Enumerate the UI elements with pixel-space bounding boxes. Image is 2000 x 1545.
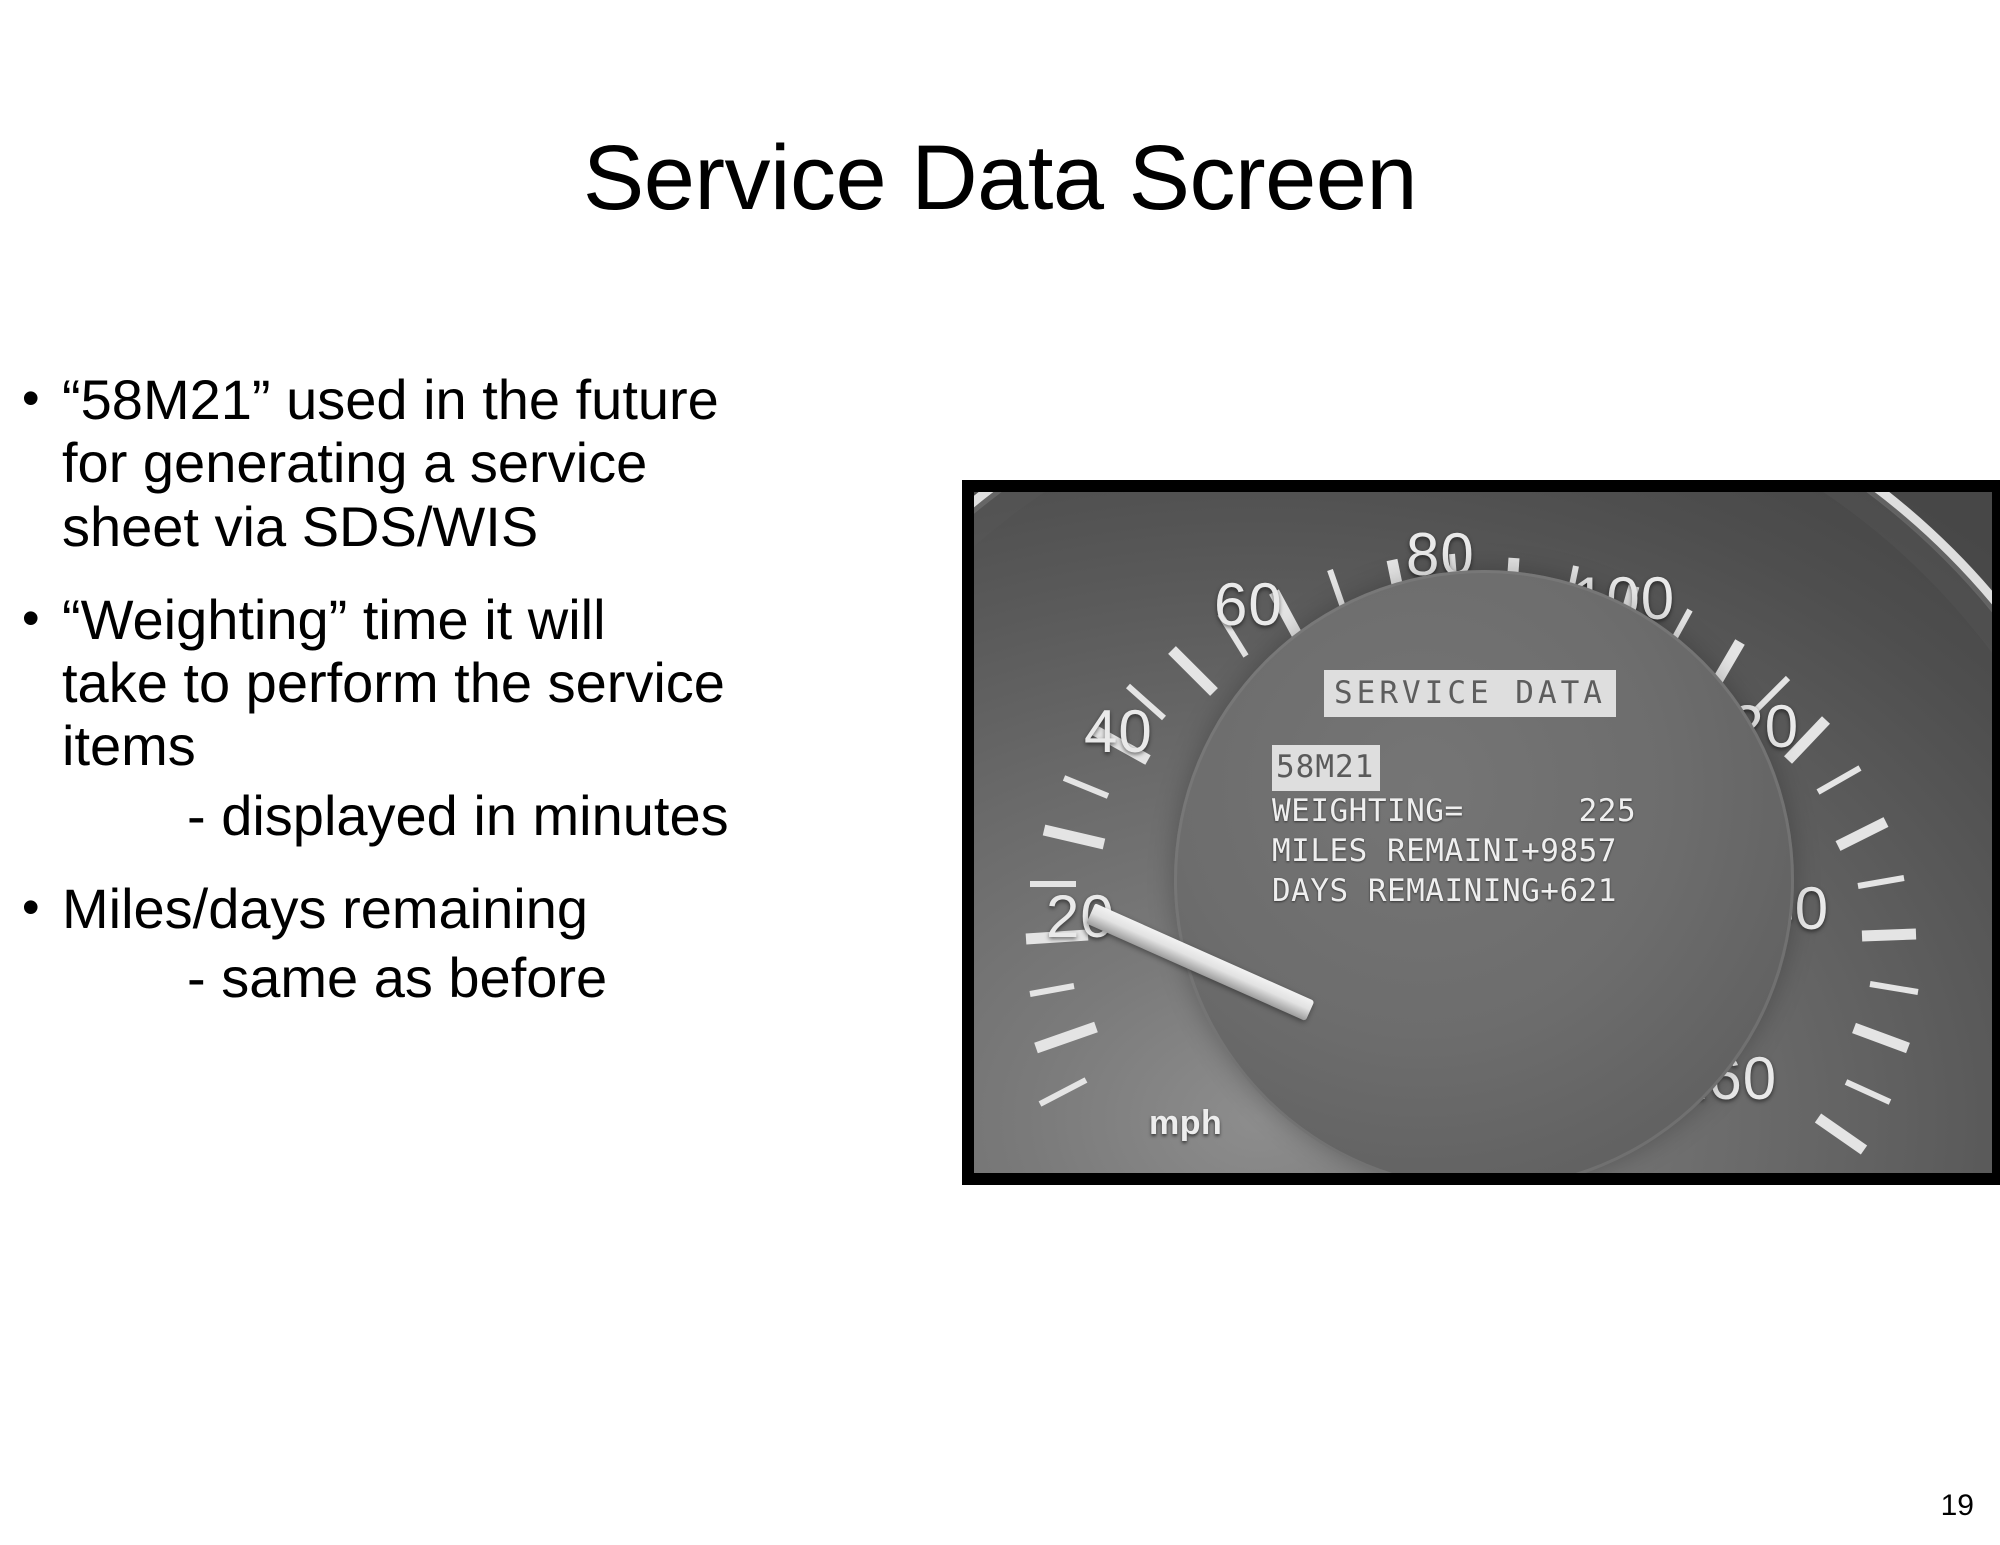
bullet-subline: - same as before [22, 946, 742, 1009]
lcd-line-miles-remaining: MILES REMAINI+9857 [1272, 831, 1712, 871]
bullet-line: Miles/days remaining [62, 877, 742, 940]
bullet-line: “58M21” used in the future [62, 368, 742, 431]
lcd-line-weighting: WEIGHTING= 225 [1272, 791, 1712, 831]
lcd-display: SERVICE DATA 58M21 WEIGHTING= 225 MILES … [1272, 670, 1712, 911]
bullet-marker-icon: • [22, 588, 62, 649]
bullet-line: sheet via SDS/WIS [62, 495, 742, 558]
gauge-face: 20 40 60 80 100 120 140 160 SERVICE DATA… [974, 492, 1992, 1173]
speedometer-photo: 20 40 60 80 100 120 140 160 SERVICE DATA… [962, 480, 2000, 1185]
lcd-line-days-remaining: DAYS REMAINING+621 [1272, 871, 1712, 911]
bullet-line: take to perform the service [62, 651, 742, 714]
bullet-marker-icon: • [22, 368, 62, 429]
gauge-number-60: 60 [1214, 570, 1283, 639]
page-title: Service Data Screen [0, 132, 2000, 224]
gauge-number-40: 40 [1084, 697, 1153, 766]
page-number: 19 [1941, 1489, 1974, 1523]
bullet-list: • “58M21” used in the future for generat… [22, 368, 742, 1039]
bullet-subline: - displayed in minutes [22, 784, 742, 847]
lcd-header: SERVICE DATA [1324, 670, 1616, 717]
lcd-code: 58M21 [1272, 745, 1380, 790]
bullet-item: • “Weighting” time it will take to perfo… [22, 588, 742, 847]
bullet-line: “Weighting” time it will [62, 588, 742, 651]
bullet-line: for generating a service [62, 431, 742, 494]
bullet-line: items [62, 714, 742, 777]
bullet-item: • “58M21” used in the future for generat… [22, 368, 742, 558]
bullet-item: • Miles/days remaining - same as before [22, 877, 742, 1010]
unit-label-mph: mph [1149, 1104, 1222, 1143]
bullet-marker-icon: • [22, 877, 62, 938]
